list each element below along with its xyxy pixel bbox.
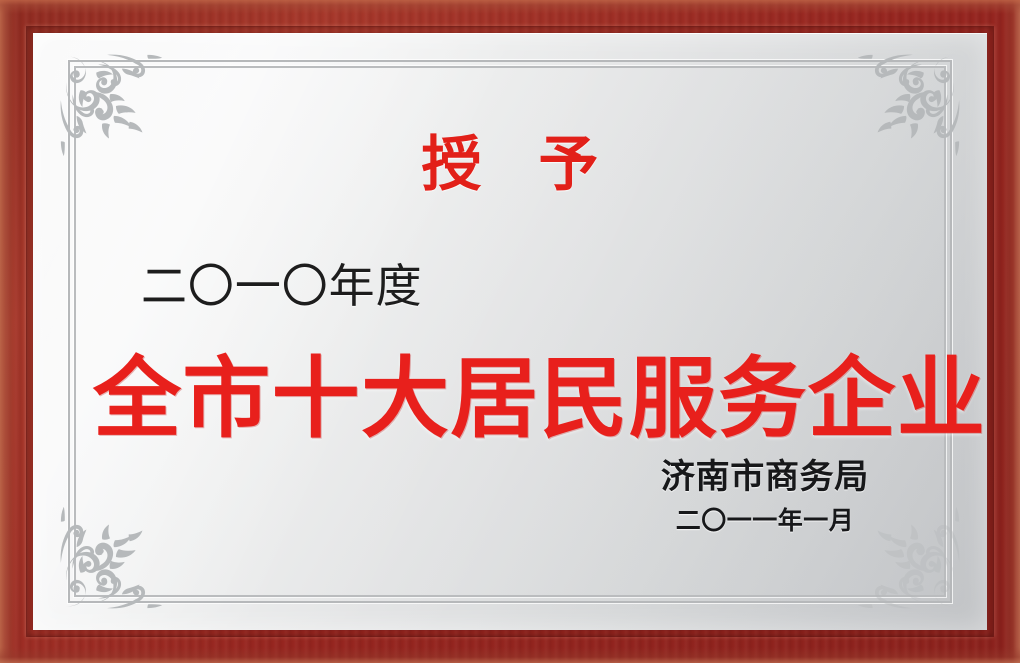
award-title: 全市十大居民服务企业: [93, 353, 927, 445]
metal-plate: 授 予 二〇一〇年度 全市十大居民服务企业 济南市商务局 二〇一一年一月: [33, 33, 987, 630]
signature-block: 济南市商务局 二〇一一年一月: [661, 458, 869, 536]
issue-date: 二〇一一年一月: [661, 507, 869, 536]
certificate-content: 授 予 二〇一〇年度 全市十大居民服务企业 济南市商务局 二〇一一年一月: [93, 85, 927, 578]
award-plaque: 授 予 二〇一〇年度 全市十大居民服务企业 济南市商务局 二〇一一年一月: [0, 0, 1020, 663]
award-year: 二〇一〇年度: [141, 263, 423, 309]
award-heading: 授 予: [93, 135, 927, 195]
issuing-authority: 济南市商务局: [661, 458, 869, 497]
